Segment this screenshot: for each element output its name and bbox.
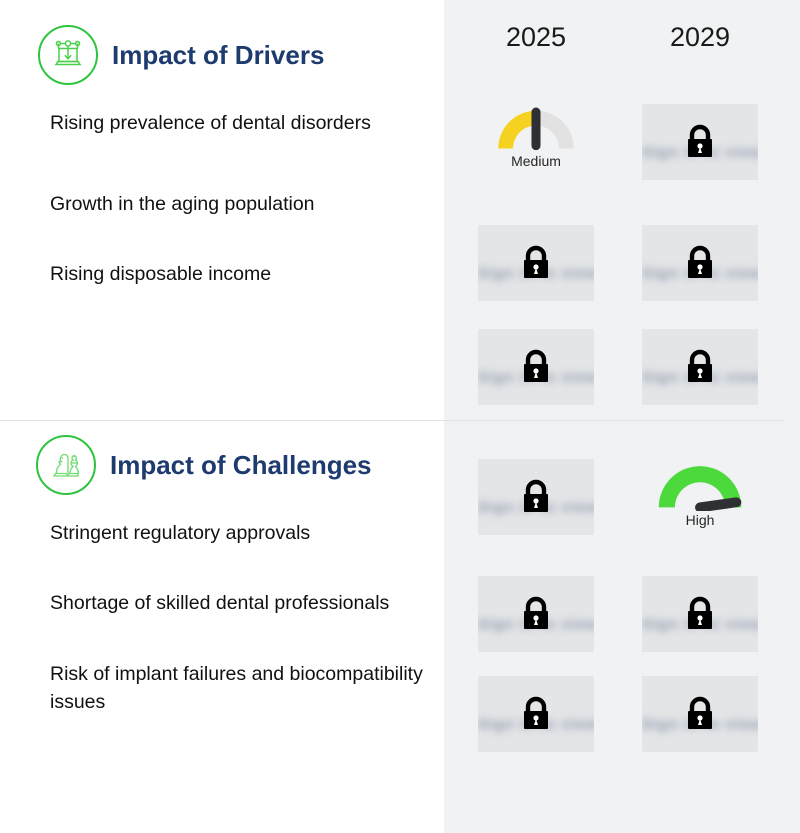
list-item-challenge-1: Stringent regulatory approvals bbox=[50, 520, 430, 548]
section-title-challenges: Impact of Challenges bbox=[110, 450, 372, 481]
gauge-high-2029: High bbox=[642, 459, 758, 535]
gauge-arc-medium bbox=[495, 104, 577, 152]
locked-cell[interactable]: Sign in to view bbox=[642, 104, 758, 180]
impact-matrix-board: 2025 2029 Impact of Drivers Rising preva… bbox=[0, 0, 800, 833]
locked-cell[interactable]: Sign in to view bbox=[478, 576, 594, 652]
gauge-value-high: High bbox=[686, 512, 715, 528]
section-title-drivers: Impact of Drivers bbox=[112, 40, 324, 71]
locked-cell[interactable]: Sign in to view bbox=[478, 676, 594, 752]
cell-challenges-1-2029[interactable]: High bbox=[642, 459, 758, 535]
lock-icon bbox=[519, 244, 553, 282]
locked-cell[interactable]: Sign in to view bbox=[478, 459, 594, 535]
locked-cell[interactable]: Sign in to view bbox=[642, 676, 758, 752]
drivers-laptop-arrow-icon bbox=[38, 25, 98, 85]
column-header-2029: 2029 bbox=[630, 22, 770, 53]
locked-cell[interactable]: Sign in to view bbox=[642, 225, 758, 301]
gauge-value-medium: Medium bbox=[511, 153, 561, 169]
locked-cell[interactable]: Sign in to view bbox=[642, 329, 758, 405]
section-divider bbox=[0, 420, 783, 421]
cell-drivers-3-2029[interactable]: Sign in to view bbox=[642, 329, 758, 405]
column-header-2025: 2025 bbox=[466, 22, 606, 53]
lock-icon bbox=[519, 348, 553, 386]
cell-drivers-3-2025[interactable]: Sign in to view bbox=[478, 329, 594, 405]
lock-icon bbox=[683, 244, 717, 282]
cell-challenges-3-2029[interactable]: Sign in to view bbox=[642, 676, 758, 752]
locked-cell[interactable]: Sign in to view bbox=[642, 576, 758, 652]
list-item-driver-1: Rising prevalence of dental disorders bbox=[50, 110, 430, 138]
lock-icon bbox=[683, 348, 717, 386]
gauge-arc-high bbox=[655, 459, 745, 511]
locked-cell[interactable]: Sign in to view bbox=[478, 329, 594, 405]
cell-drivers-2-2029[interactable]: Sign in to view bbox=[642, 225, 758, 301]
cell-drivers-1-2025[interactable]: Medium bbox=[478, 104, 594, 180]
list-item-driver-2: Growth in the aging population bbox=[50, 191, 430, 219]
section-header-drivers: Impact of Drivers bbox=[38, 25, 324, 85]
list-item-challenge-3: Risk of implant failures and biocompatib… bbox=[50, 661, 430, 716]
cell-drivers-2-2025[interactable]: Sign in to view bbox=[478, 225, 594, 301]
locked-cell[interactable]: Sign in to view bbox=[478, 225, 594, 301]
cell-challenges-3-2025[interactable]: Sign in to view bbox=[478, 676, 594, 752]
cell-challenges-2-2025[interactable]: Sign in to view bbox=[478, 576, 594, 652]
section-header-challenges: Impact of Challenges bbox=[36, 435, 372, 495]
lock-icon bbox=[519, 695, 553, 733]
lock-icon bbox=[519, 478, 553, 516]
cell-challenges-2-2029[interactable]: Sign in to view bbox=[642, 576, 758, 652]
list-item-challenge-2: Shortage of skilled dental professionals bbox=[50, 590, 430, 618]
cell-drivers-1-2029[interactable]: Sign in to view bbox=[642, 104, 758, 180]
lock-icon bbox=[519, 595, 553, 633]
lock-icon bbox=[683, 595, 717, 633]
challenges-chess-pieces-icon bbox=[36, 435, 96, 495]
gauge-medium-2025: Medium bbox=[478, 104, 594, 180]
list-item-driver-3: Rising disposable income bbox=[50, 261, 430, 289]
cell-challenges-1-2025[interactable]: Sign in to view bbox=[478, 459, 594, 535]
lock-icon bbox=[683, 695, 717, 733]
lock-icon bbox=[683, 123, 717, 161]
